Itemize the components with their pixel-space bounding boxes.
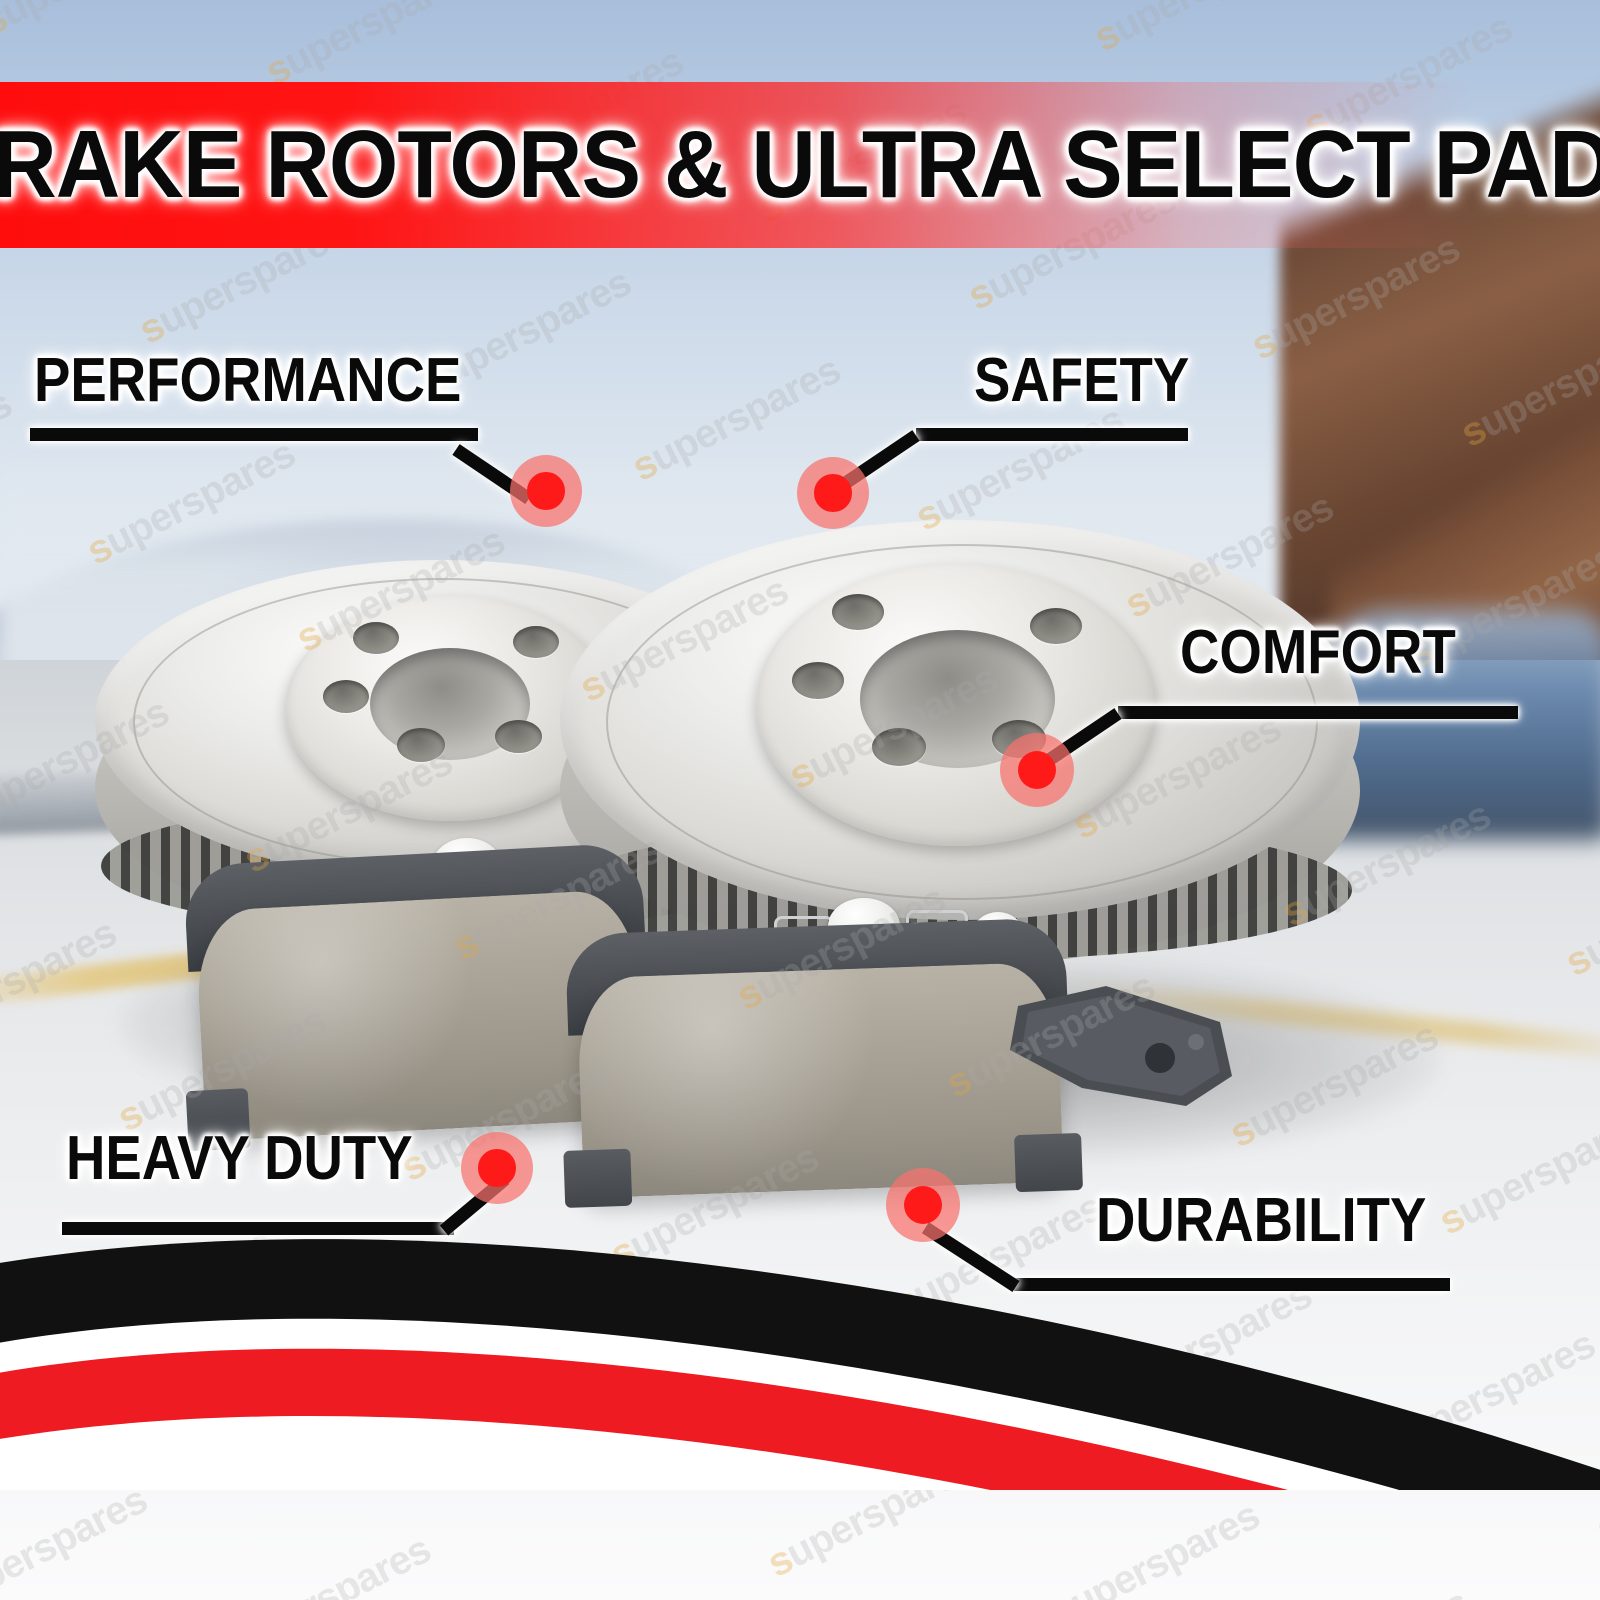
lug-hole [397, 728, 445, 762]
lug-hole [872, 728, 926, 766]
callout-dot-heavy-duty[interactable] [461, 1132, 533, 1204]
pad-backing-plate-extra [1010, 980, 1240, 1120]
brake-pad-right [576, 962, 1063, 1199]
footer: PROTEX The standard in auto parts supers… [0, 1380, 1600, 1600]
lug-hole [1030, 608, 1082, 644]
callout-bar-comfort [1118, 706, 1518, 719]
product-listing-image: supersparessupersparessupersparessupersp… [0, 0, 1600, 1600]
lug-hole [495, 720, 542, 753]
callout-label-comfort: COMFORT [1180, 622, 1456, 684]
callout-label-performance: PERFORMANCE [34, 350, 461, 412]
callout-dot-safety[interactable] [797, 457, 869, 529]
pad-mounting-ear [563, 1148, 632, 1207]
lug-hole [353, 622, 399, 654]
pad-mounting-ear [1014, 1133, 1083, 1192]
callout-bar-safety [916, 428, 1188, 441]
page-title: BRAKE ROTORS & ULTRA SELECT PADS [56, 82, 1544, 248]
lug-hole [792, 662, 844, 699]
callout-dot-comfort[interactable] [1000, 733, 1074, 807]
lug-hole [832, 594, 884, 630]
callout-label-safety: SAFETY [974, 350, 1189, 412]
pad-friction-material [576, 962, 1063, 1199]
callout-bar-performance [30, 428, 478, 441]
lug-hole [323, 680, 369, 713]
callout-dot-performance[interactable] [510, 455, 582, 527]
callout-label-heavy-duty: HEAVY DUTY [66, 1128, 413, 1190]
lug-hole [513, 626, 559, 658]
